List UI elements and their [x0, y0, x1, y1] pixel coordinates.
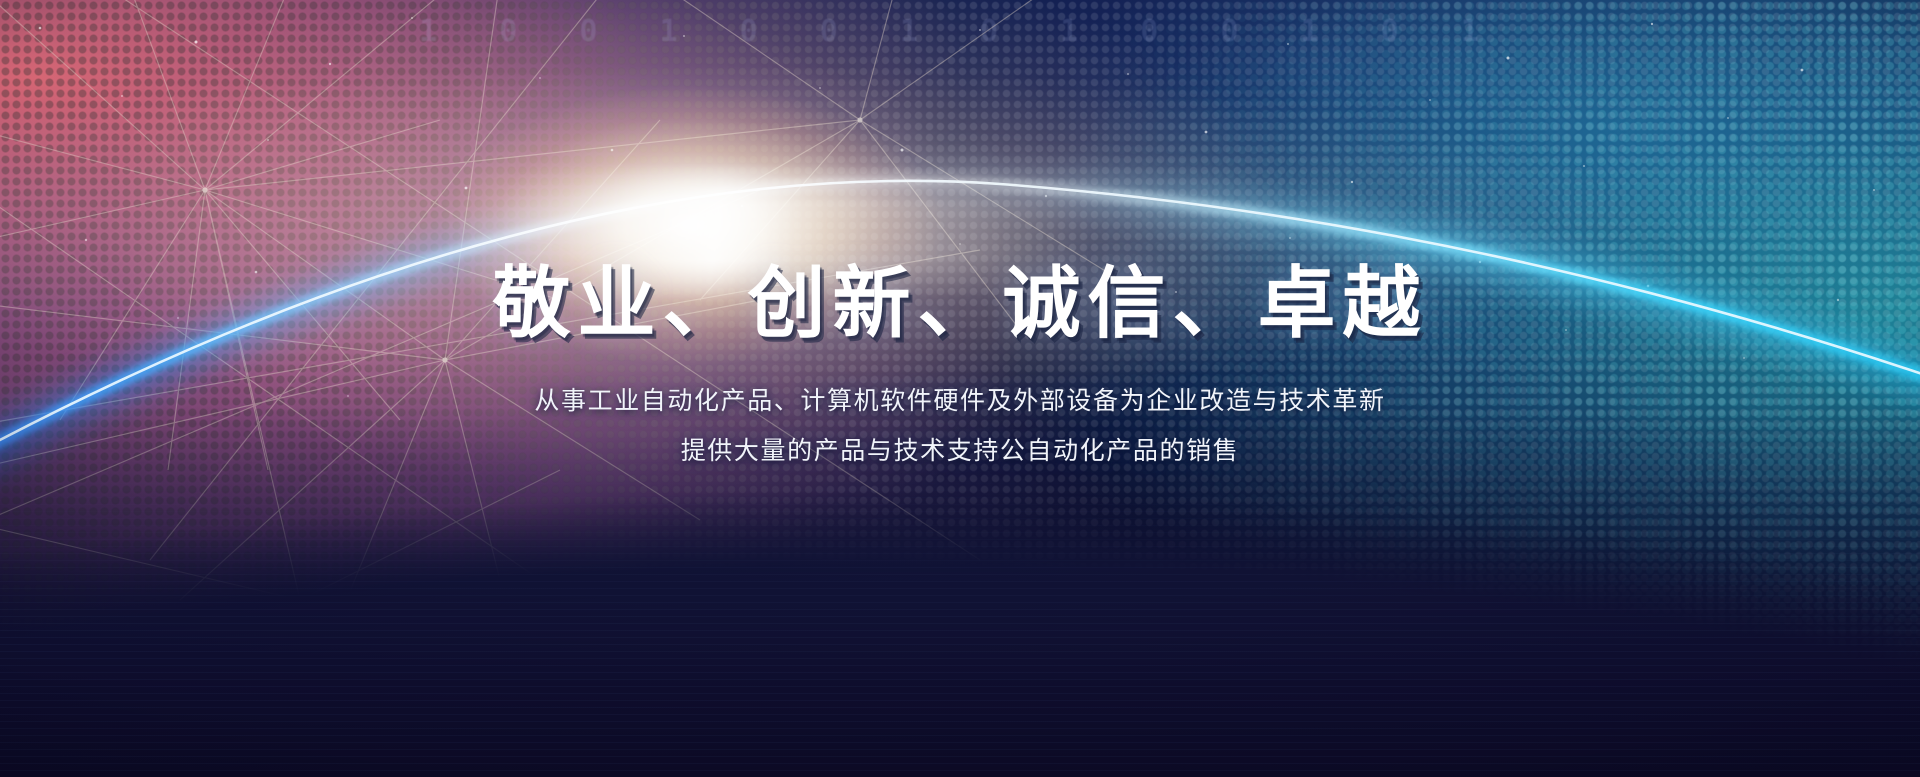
banner-subtitle-line-2: 提供大量的产品与技术支持公自动化产品的销售: [0, 433, 1920, 469]
banner-headline: 敬业、创新、诚信、卓越: [0, 264, 1920, 345]
banner-subtitles: 从事工业自动化产品、计算机软件硬件及外部设备为企业改造与技术革新 提供大量的产品…: [0, 383, 1920, 468]
binary-digit-strip: 1 0 0 1 0 0 1 0 1 0 0 1 0 1: [0, 8, 1920, 54]
banner-content: 敬业、创新、诚信、卓越 从事工业自动化产品、计算机软件硬件及外部设备为企业改造与…: [0, 264, 1920, 468]
banner-subtitle-line-1: 从事工业自动化产品、计算机软件硬件及外部设备为企业改造与技术革新: [0, 383, 1920, 419]
hero-banner: 1 0 0 1 0 0 1 0 1 0 0 1 0 1: [0, 0, 1920, 777]
